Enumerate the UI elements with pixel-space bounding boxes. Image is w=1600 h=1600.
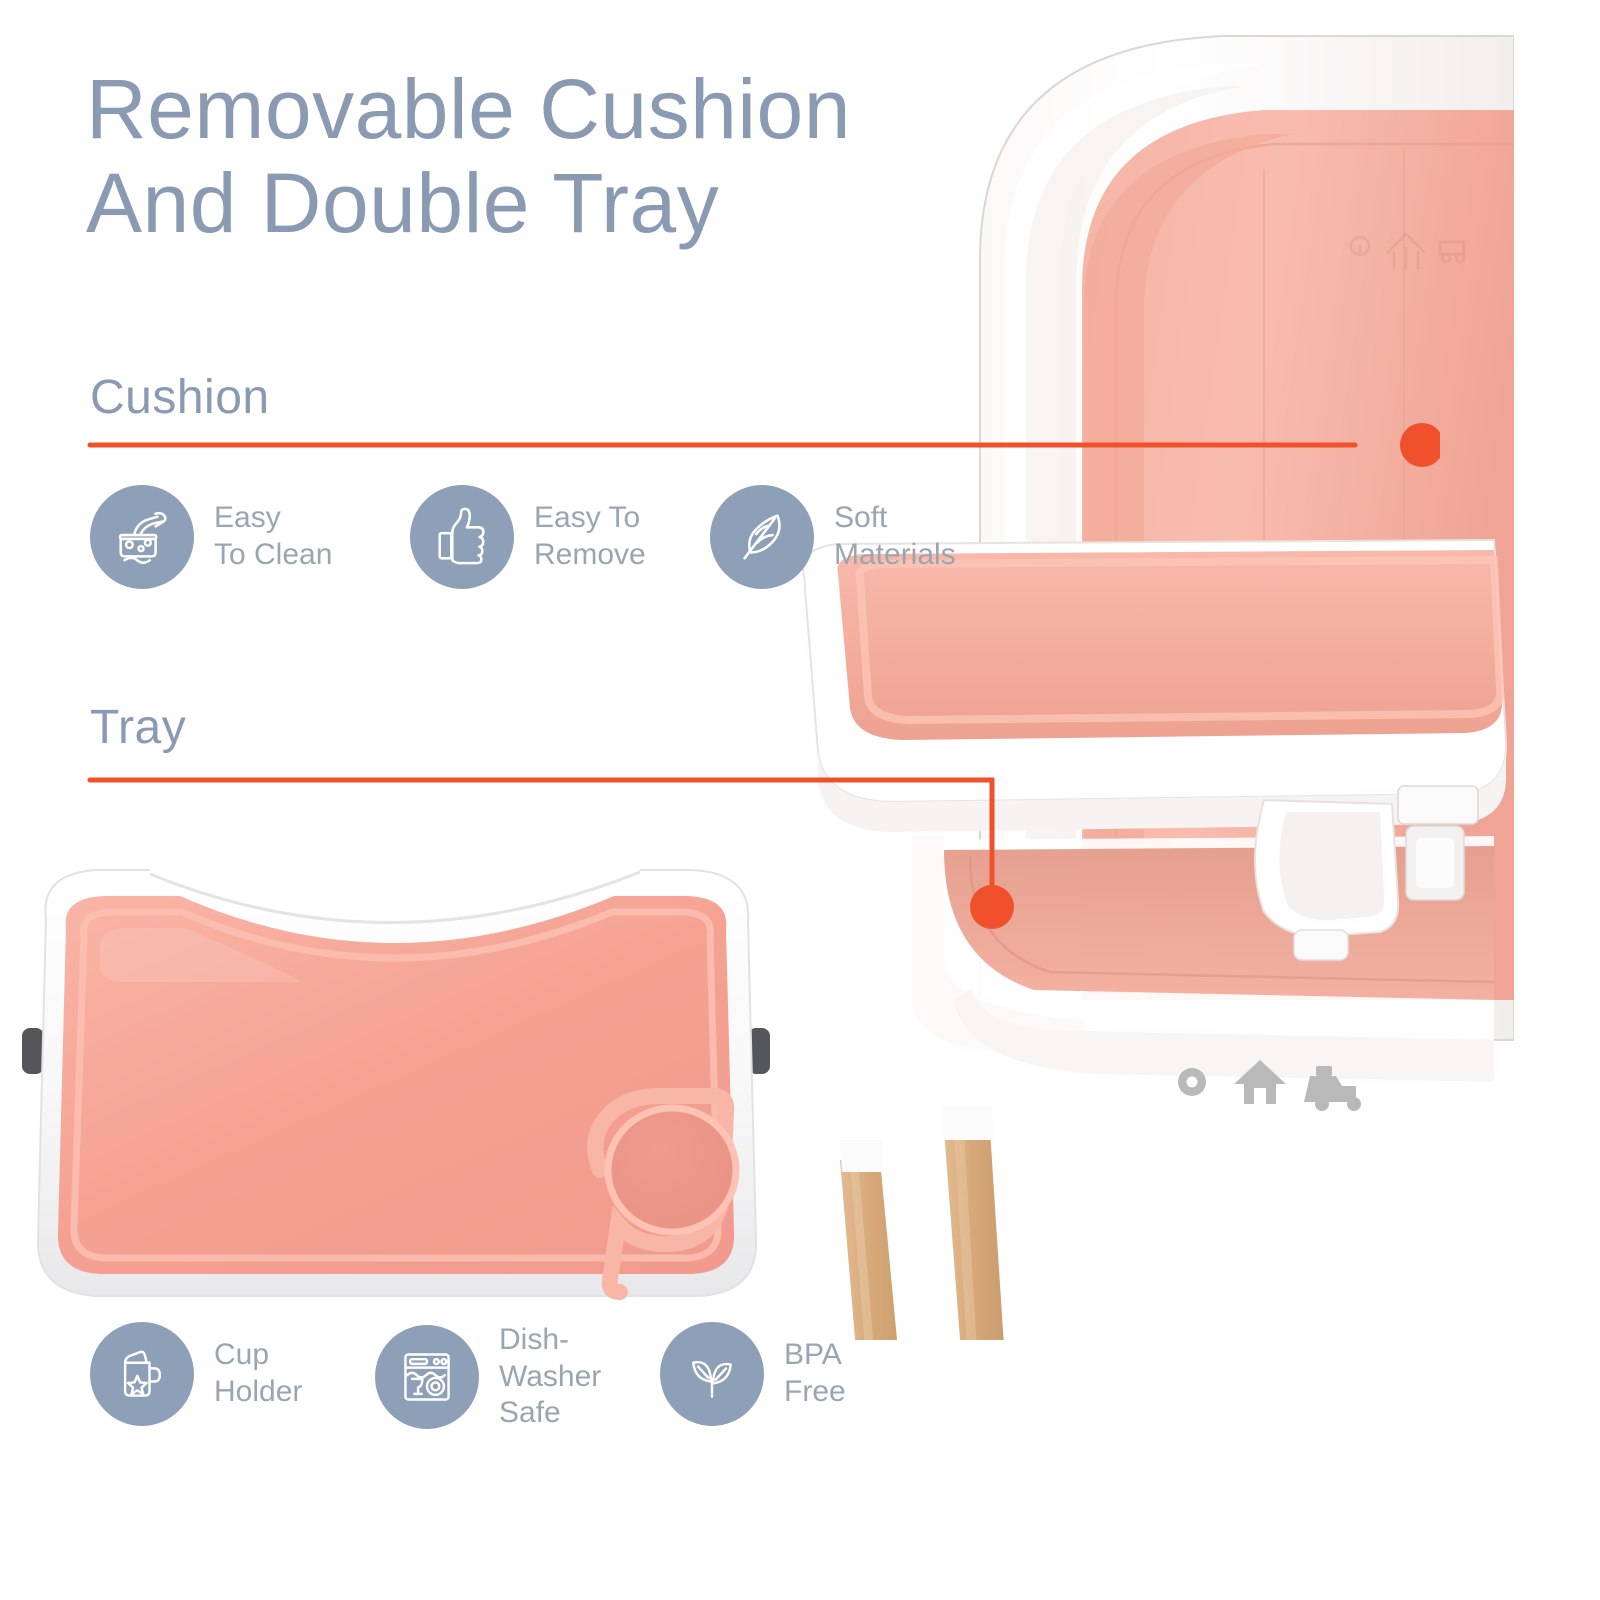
leaves-icon — [660, 1322, 764, 1426]
feature-label: Cup Holder — [214, 1337, 302, 1410]
feature-easy-to-clean: Easy To Clean — [90, 485, 410, 589]
dishwasher-icon — [375, 1325, 479, 1429]
sippy-cup-icon — [90, 1322, 194, 1426]
feature-row-cushion: Easy To Clean Easy To Remove Soft Ma — [90, 485, 956, 589]
feature-label: BPA Free — [784, 1337, 846, 1410]
feature-easy-to-remove: Easy To Remove — [410, 485, 710, 589]
feature-soft-materials: Soft Materials — [710, 485, 956, 589]
feature-row-tray: Cup Holder Dish- Washer Safe — [90, 1322, 846, 1432]
feature-label: Dish- Washer Safe — [499, 1322, 601, 1432]
feature-label: Soft Materials — [834, 500, 956, 573]
feature-label: Easy To Clean — [214, 500, 332, 573]
feature-cup-holder: Cup Holder — [90, 1322, 375, 1426]
hand-wipe-icon — [90, 485, 194, 589]
thumbs-up-icon — [410, 485, 514, 589]
feature-label: Easy To Remove — [534, 500, 646, 573]
feature-dishwasher-safe: Dish- Washer Safe — [375, 1322, 660, 1432]
tray-product-image — [0, 840, 790, 1340]
section-heading-tray: Tray — [90, 700, 186, 755]
page-title: Removable Cushion And Double Tray — [86, 62, 1116, 250]
feature-bpa-free: BPA Free — [660, 1322, 846, 1426]
section-heading-cushion: Cushion — [90, 370, 270, 425]
feather-icon — [710, 485, 814, 589]
infographic-canvas: Removable Cushion And Double Tray Cushio… — [0, 0, 1600, 1600]
